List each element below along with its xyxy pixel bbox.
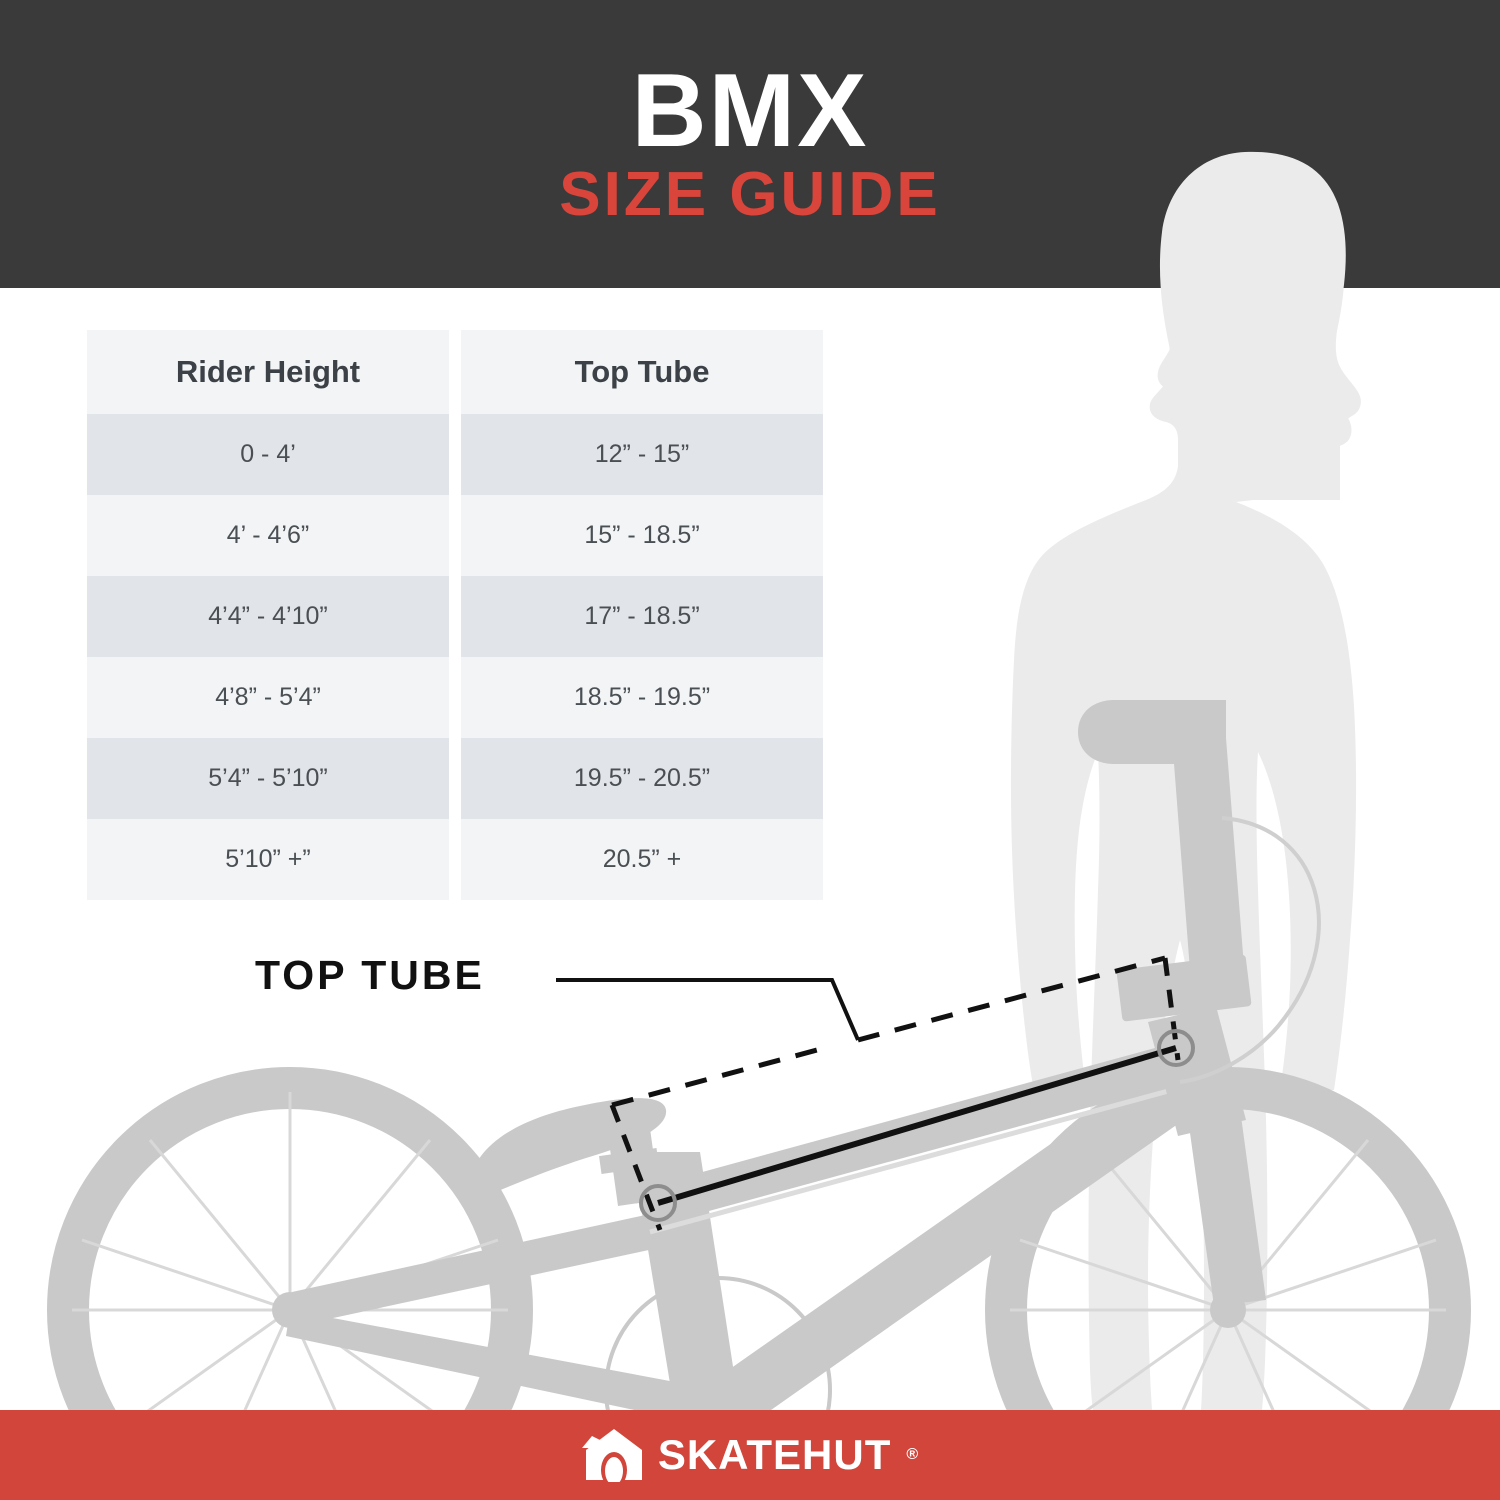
brand-logo[interactable]: SKATEHUT ® [0,1410,1500,1500]
skatehut-hut-icon [582,1428,646,1482]
footer-layer: SKATEHUT ® [0,0,1500,1500]
infographic-canvas: BMX SIZE GUIDE Rider Height 0 - 4’ 4’ - … [0,0,1500,1500]
brand-name: SKATEHUT [658,1431,892,1479]
registered-trademark-icon: ® [906,1446,918,1464]
